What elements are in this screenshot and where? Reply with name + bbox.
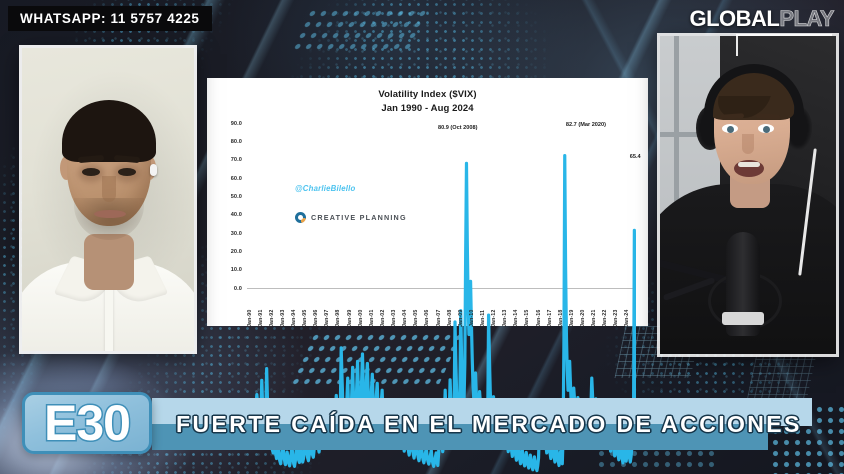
lower-third-banner: FUERTE CAÍDA EN EL MERCADO DE ACCIONES E… xyxy=(0,378,844,474)
chart-x-tick-label: Jan-19 xyxy=(569,309,575,326)
chart-x-tick-label: Jan-90 xyxy=(247,309,253,326)
chart-annotation-label: 82.7 (Mar 2020) xyxy=(566,122,606,128)
chart-x-tick-label: Jan-94 xyxy=(291,309,297,326)
chart-y-tick-label: 60.0 xyxy=(231,176,242,182)
chart-x-tick-label: Jan-99 xyxy=(347,309,353,326)
chart-x-tick-label: Jan-14 xyxy=(513,309,519,326)
host-pupil-left xyxy=(727,126,734,133)
chart-x-tick-label: Jan-15 xyxy=(524,309,530,326)
guest-mouth xyxy=(94,210,126,218)
host-nose xyxy=(742,134,754,154)
chart-x-tick-label: Jan-10 xyxy=(469,309,475,326)
chart-series-region: 80.9 (Oct 2008)82.7 (Mar 2020)65.4 @Char… xyxy=(247,124,636,289)
guest-earbud-icon xyxy=(150,164,157,176)
headline-text: FUERTE CAÍDA EN EL MERCADO DE ACCIONES xyxy=(176,402,802,446)
vix-chart-panel: Volatility Index ($VIX) Jan 1990 - Aug 2… xyxy=(207,78,648,326)
chart-x-tick-label: Jan-07 xyxy=(436,309,442,326)
chart-plot-area: 0.010.020.030.040.050.060.070.080.090.0 … xyxy=(215,124,640,329)
chart-x-tick-label: Jan-22 xyxy=(602,309,608,326)
chart-x-tick-label: Jan-06 xyxy=(424,309,430,326)
whatsapp-contact-chip: WHATSAPP: 11 5757 4225 xyxy=(8,6,212,31)
chart-x-tick-label: Jan-21 xyxy=(591,309,597,326)
chart-title: Volatility Index ($VIX) Jan 1990 - Aug 2… xyxy=(215,88,640,116)
creative-planning-logo: CREATIVE PLANNING xyxy=(295,212,407,223)
chart-watermark-handle: @CharlieBilello xyxy=(295,184,355,193)
chart-x-tick-label: Jan-97 xyxy=(324,309,330,326)
chart-x-tick-label: Jan-92 xyxy=(269,309,275,326)
chart-x-tick-label: Jan-12 xyxy=(491,309,497,326)
chart-x-tick-label: Jan-08 xyxy=(447,309,453,326)
chart-title-main: Volatility Index ($VIX) xyxy=(215,88,640,102)
chart-x-tick-label: Jan-95 xyxy=(302,309,308,326)
channel-logo-secondary: PLAY xyxy=(779,6,834,32)
chart-x-tick-label: Jan-23 xyxy=(613,309,619,326)
host-pupil-right xyxy=(763,126,770,133)
guest-neck xyxy=(84,234,134,290)
chart-x-tick-label: Jan-00 xyxy=(358,309,364,326)
chart-x-tick-label: Jan-16 xyxy=(536,309,542,326)
channel-logo-primary: GLOBAL xyxy=(689,6,779,32)
chart-x-tick-label: Jan-24 xyxy=(624,309,630,326)
chart-y-tick-label: 90.0 xyxy=(231,121,242,127)
background-dot-cluster xyxy=(291,8,430,50)
channel-logo-corner-rule xyxy=(736,34,832,56)
host-video-feed xyxy=(660,36,836,354)
chart-y-tick-label: 70.0 xyxy=(231,157,242,163)
chart-x-tick-label: Jan-18 xyxy=(558,309,564,326)
guest-eye-right xyxy=(118,168,136,176)
chart-x-tick-label: Jan-93 xyxy=(280,309,286,326)
creative-planning-label: CREATIVE PLANNING xyxy=(311,213,407,222)
chart-x-tick-label: Jan-13 xyxy=(502,309,508,326)
guest-video-feed xyxy=(22,48,194,351)
guest-eye-left xyxy=(82,168,100,176)
chart-annotation-label: 80.9 (Oct 2008) xyxy=(438,125,478,131)
chart-y-tick-label: 20.0 xyxy=(231,249,242,255)
channel-logo: GLOBAL PLAY xyxy=(689,6,834,32)
chart-x-tick-label: Jan-05 xyxy=(413,309,419,326)
chart-x-tick-label: Jan-91 xyxy=(258,309,264,326)
program-logo-text: E30 xyxy=(44,398,130,448)
chart-x-tick-label: Jan-03 xyxy=(391,309,397,326)
whatsapp-contact-text: WHATSAPP: 11 5757 4225 xyxy=(20,11,200,26)
chart-y-tick-label: 0.0 xyxy=(234,286,242,292)
microphone-ring xyxy=(722,312,764,325)
chart-x-tick-label: Jan-09 xyxy=(458,309,464,326)
chart-x-tick-label: Jan-11 xyxy=(480,309,486,326)
chart-y-tick-label: 80.0 xyxy=(231,139,242,145)
chart-x-tick-label: Jan-20 xyxy=(580,309,586,326)
chart-y-tick-label: 40.0 xyxy=(231,212,242,218)
chart-y-tick-label: 30.0 xyxy=(231,231,242,237)
broadcast-stage: WHATSAPP: 11 5757 4225 GLOBAL PLAY xyxy=(0,0,844,474)
chart-x-tick-label: Jan-17 xyxy=(547,309,553,326)
chart-subtitle: Jan 1990 - Aug 2024 xyxy=(215,102,640,116)
guest-shirt-placket xyxy=(105,284,113,351)
chart-x-tick-label: Jan-02 xyxy=(380,309,386,326)
chart-annotation-label: 65.4 xyxy=(630,154,641,160)
chart-y-tick-label: 10.0 xyxy=(231,267,242,273)
chart-x-axis: Jan-90Jan-91Jan-92Jan-93Jan-94Jan-95Jan-… xyxy=(247,289,636,329)
program-logo-badge: E30 xyxy=(22,392,152,454)
chart-x-tick-label: Jan-01 xyxy=(369,309,375,326)
chart-x-tick-label: Jan-04 xyxy=(402,309,408,326)
chart-y-axis: 0.010.020.030.040.050.060.070.080.090.0 xyxy=(215,124,245,289)
chart-x-tick-label: Jan-98 xyxy=(335,309,341,326)
guest-nose xyxy=(102,176,116,202)
chart-y-tick-label: 50.0 xyxy=(231,194,242,200)
host-mouth xyxy=(734,160,764,177)
creative-planning-mark-icon xyxy=(295,212,306,223)
chart-x-tick-label: Jan-96 xyxy=(313,309,319,326)
